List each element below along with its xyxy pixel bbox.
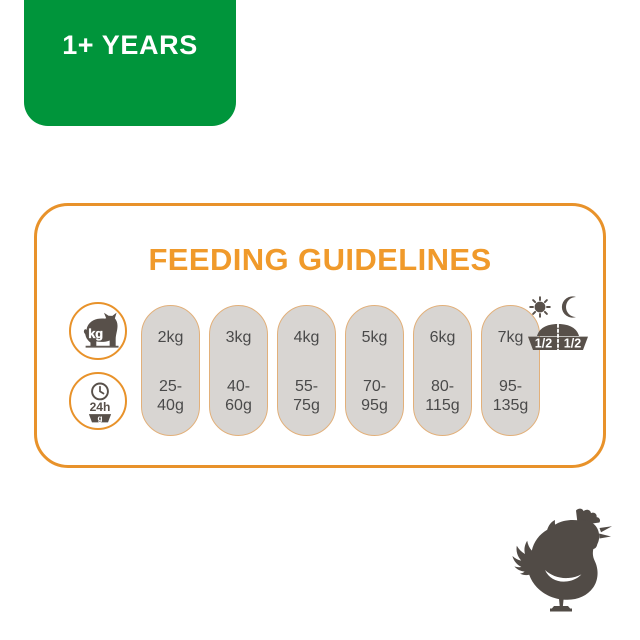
- table-column: 6kg 80- 115g: [413, 305, 472, 436]
- table-column: 5kg 70- 95g: [345, 305, 404, 436]
- cell-weight: 2kg: [142, 329, 199, 347]
- cell-amount: 55- 75g: [278, 377, 335, 415]
- cat-weight-icon: kg kg: [69, 302, 127, 360]
- table-column: 4kg 55- 75g: [277, 305, 336, 436]
- table-column: 3kg 40- 60g: [209, 305, 268, 436]
- cell-weight: 5kg: [346, 329, 403, 347]
- cell-weight: 3kg: [210, 329, 267, 347]
- cell-weight: 6kg: [414, 329, 471, 347]
- feeding-table: 2kg 25- 40g 3kg 40- 60g 4kg 55- 75g 5kg …: [141, 305, 540, 436]
- age-badge-label: 1+ YEARS: [24, 30, 236, 61]
- daily-ration-bowl-label: g: [97, 414, 102, 423]
- cell-weight: 4kg: [278, 329, 335, 347]
- table-column: 2kg 25- 40g: [141, 305, 200, 436]
- morning-portion-label: 1/2: [535, 336, 552, 350]
- age-badge: 1+ YEARS: [24, 0, 236, 126]
- chicken-silhouette-icon: [498, 500, 616, 612]
- daily-ration-hours-label: 24h: [90, 400, 111, 414]
- row-header-icons: kg kg 24h g 24h g: [69, 302, 129, 430]
- cell-amount: 40- 60g: [210, 377, 267, 415]
- cell-amount: 25- 40g: [142, 377, 199, 415]
- sun-moon-split-feeding-icon: 1/2 1/2 1/2 1/2: [520, 294, 596, 354]
- evening-portion-label: 1/2: [564, 336, 581, 350]
- cell-amount: 95- 135g: [482, 377, 539, 415]
- cell-amount: 70- 95g: [346, 377, 403, 415]
- cell-amount: 80- 115g: [414, 377, 471, 415]
- page-title: FEEDING GUIDELINES: [37, 242, 603, 278]
- cat-weight-icon-label: kg: [88, 326, 103, 341]
- daily-ration-icon: 24h g 24h g: [69, 372, 127, 430]
- feeding-guidelines-panel: FEEDING GUIDELINES kg kg: [34, 203, 606, 468]
